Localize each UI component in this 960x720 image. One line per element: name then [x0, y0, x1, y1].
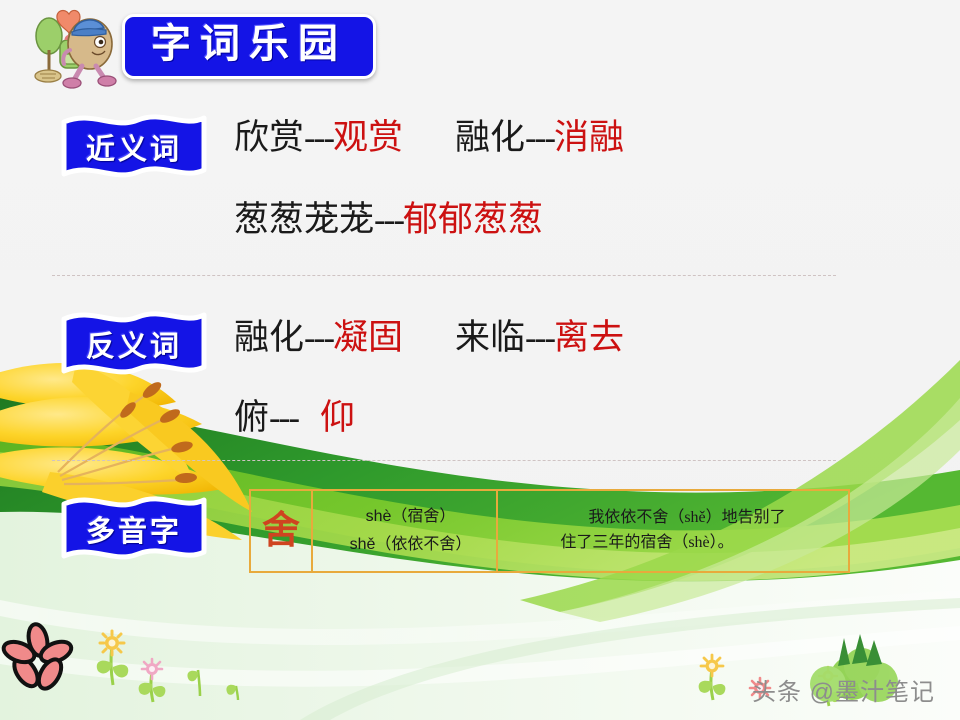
antonyms-row-1: 融化---凝固来临---离去: [234, 320, 624, 355]
antonym-3-dash: ---: [269, 398, 298, 437]
polyphone-example-cell: 我依依不舍（shě）地告别了 住了三年的宿舍（shè）。: [498, 491, 848, 571]
banner-antonyms: 反义词: [58, 305, 210, 383]
antonym-1-left: 融化: [234, 318, 304, 357]
synonym-2-dash: ---: [525, 118, 554, 157]
antonym-2-right: 离去: [554, 318, 624, 357]
antonym-2-dash: ---: [525, 318, 554, 357]
page-title: 字词乐园: [122, 14, 376, 79]
synonyms-row-2: 葱葱茏茏---郁郁葱葱: [234, 202, 543, 237]
polyphone-readings-cell: shè（宿舍） shě（依依不舍）: [313, 491, 498, 571]
example-sentence-line-1: 我依依不舍（shě）地告别了: [560, 506, 785, 531]
section-divider-1: [52, 275, 836, 276]
synonym-3-left: 葱葱茏茏: [234, 200, 374, 239]
section-divider-2: [52, 460, 836, 461]
polyphone-character: 舍: [262, 512, 300, 550]
banner-polyphone: 多音字: [58, 490, 210, 568]
synonym-3-right: 郁郁葱葱: [403, 200, 543, 239]
watermark-text: 头条 @墨汁笔记: [752, 672, 935, 707]
polyphone-example-sentence: 我依依不舍（shě）地告别了 住了三年的宿舍（shè）。: [560, 506, 785, 556]
banner-synonyms: 近义词: [58, 108, 210, 186]
antonym-3-right: 仰: [320, 398, 355, 437]
banner-antonyms-label: 反义词: [58, 305, 210, 383]
antonym-1-dash: ---: [304, 318, 333, 357]
synonym-3-dash: ---: [374, 200, 403, 239]
mascot-hiker-icon: [22, 6, 126, 92]
antonym-3-left: 俯: [234, 398, 269, 437]
synonym-1-left: 欣赏: [234, 118, 304, 157]
polyphone-table: 舍 shè（宿舍） shě（依依不舍） 我依依不舍（shě）地告别了 住了三年的…: [249, 489, 850, 573]
synonym-2-right: 消融: [554, 118, 624, 157]
synonym-1-dash: ---: [304, 118, 333, 157]
banner-synonyms-label: 近义词: [58, 108, 210, 186]
antonym-1-right: 凝固: [333, 318, 403, 357]
synonym-1-right: 观赏: [333, 118, 403, 157]
title-text: 字词乐园: [151, 22, 347, 67]
polyphone-character-cell: 舍: [251, 491, 313, 571]
polyphone-reading-2: shě（依依不舍）: [350, 537, 472, 553]
example-sentence-line-2: 住了三年的宿舍（shè）。: [560, 531, 785, 556]
title-plate: 字词乐园: [122, 14, 376, 79]
banner-polyphone-label: 多音字: [58, 490, 210, 568]
pink-flower-icon: [1, 622, 74, 692]
synonym-2-left: 融化: [455, 118, 525, 157]
antonym-2-left: 来临: [455, 318, 525, 357]
slide-canvas: 字词乐园 近义词 欣赏---观赏融化---消融 葱葱茏茏---郁郁葱葱 反义词 …: [0, 0, 960, 720]
antonyms-row-2: 俯---仰: [234, 400, 355, 435]
synonyms-row-1: 欣赏---观赏融化---消融: [234, 120, 624, 155]
polyphone-reading-1: shè（宿舍）: [366, 509, 456, 525]
